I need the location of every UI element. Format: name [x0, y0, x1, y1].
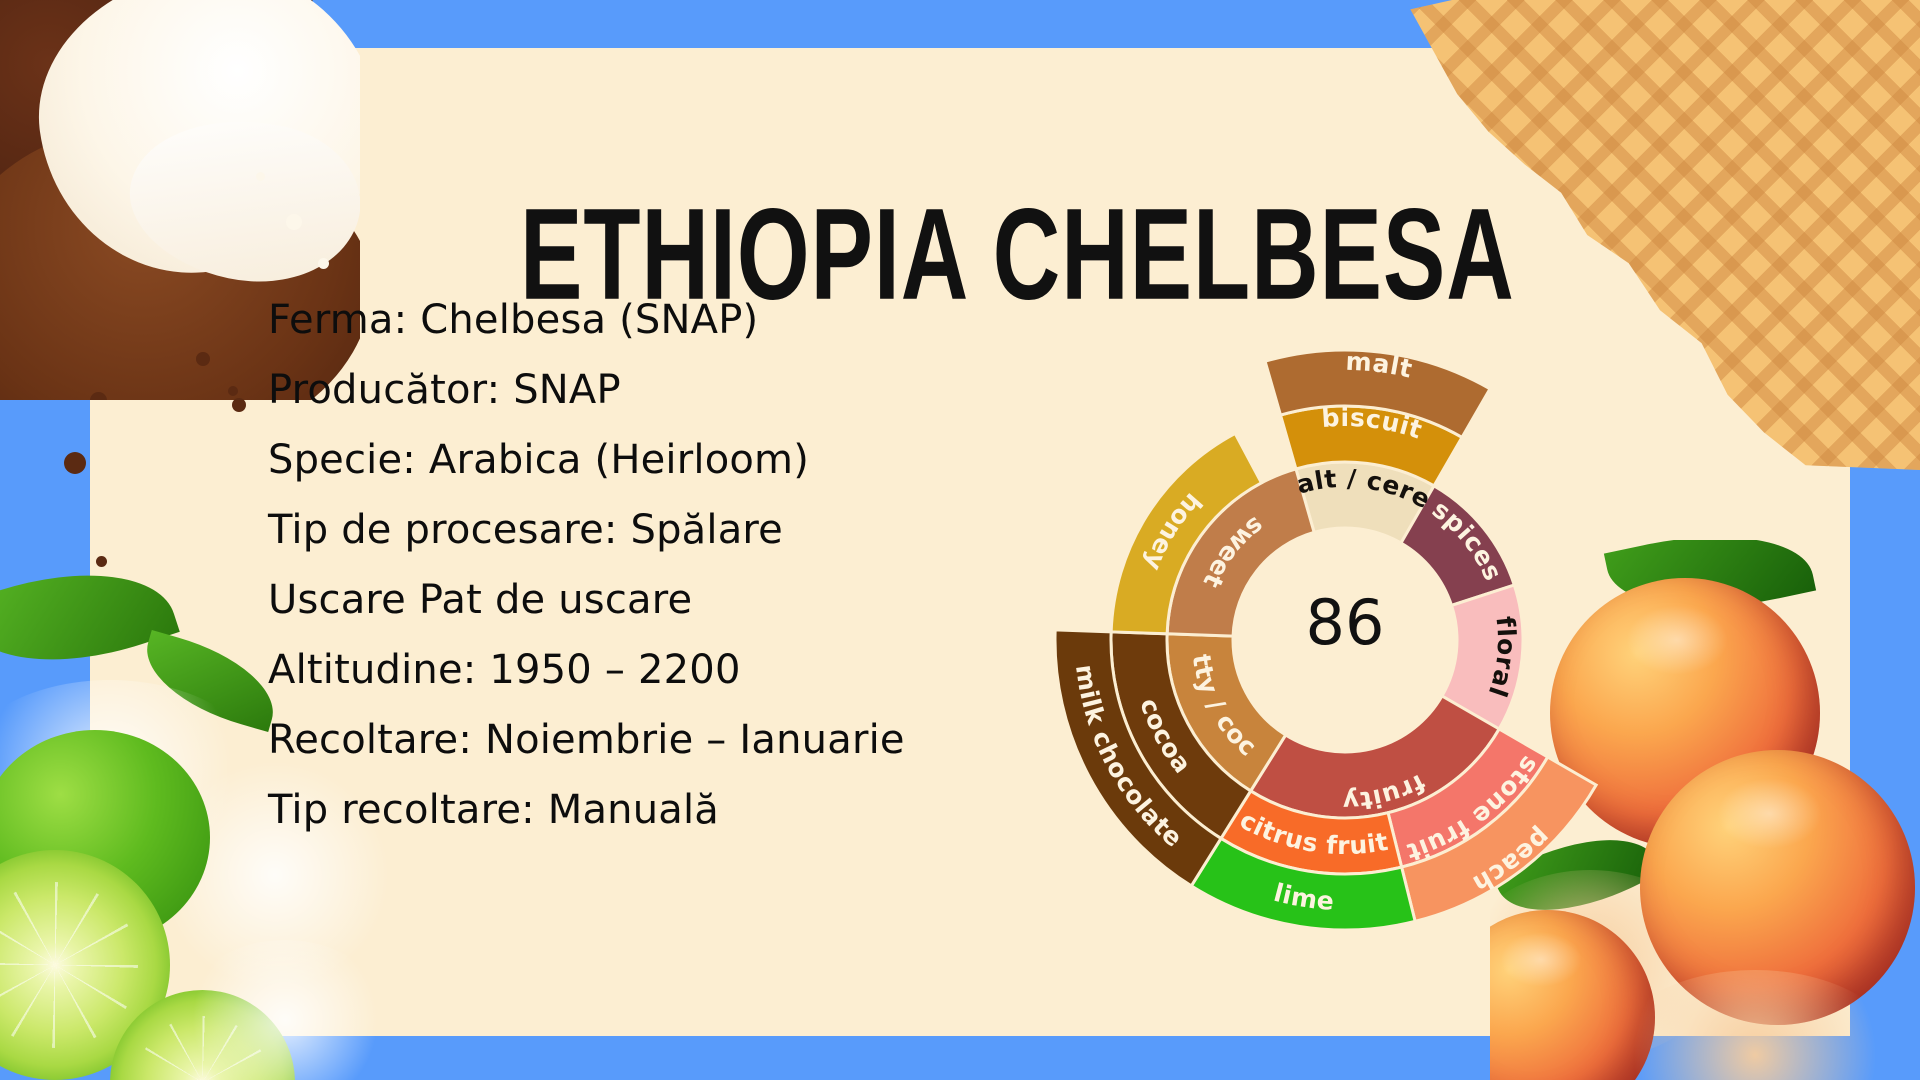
detail-row-producer: Producător: SNAP	[268, 370, 1008, 410]
detail-row-harvest: Recoltare: Noiembrie – Ianuarie	[268, 720, 1008, 760]
coffee-details-list: Ferma: Chelbesa (SNAP) Producător: SNAP …	[268, 300, 1008, 860]
detail-row-farm: Ferma: Chelbesa (SNAP)	[268, 300, 1008, 340]
chocolate-droplet	[232, 398, 246, 412]
detail-row-drying: Uscare Pat de uscare	[268, 580, 1008, 620]
detail-row-processing: Tip de procesare: Spălare	[268, 510, 1008, 550]
chocolate-droplet	[64, 452, 86, 474]
detail-row-species: Specie: Arabica (Heirloom)	[268, 440, 1008, 480]
cupping-score: 86	[1035, 586, 1655, 659]
detail-row-altitude: Altitudine: 1950 – 2200	[268, 650, 1008, 690]
flavour-wheel-chart: alt / cerespicesfloralfruitytty / cocswe…	[1035, 330, 1655, 950]
detail-row-harvest-type: Tip recoltare: Manuală	[268, 790, 1008, 830]
lime-leaf	[0, 550, 180, 694]
